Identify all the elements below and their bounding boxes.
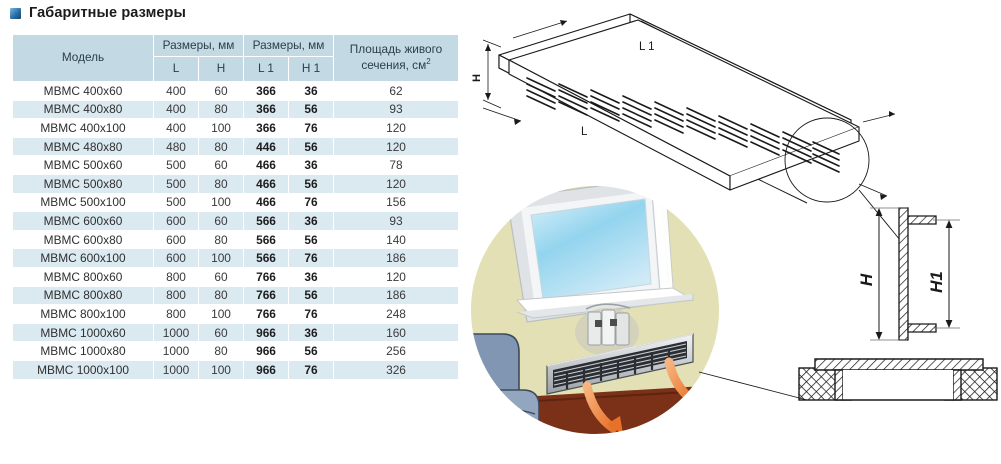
cell-area: 93: [334, 101, 458, 119]
table-row: МВМС 800х10080010076676248: [13, 305, 458, 323]
cell-area: 160: [334, 324, 458, 342]
cell-area: 120: [334, 138, 458, 156]
table-row: МВМС 800х608006076636120: [13, 268, 458, 286]
cell-H: 80: [199, 342, 243, 360]
top-section-drawing: [699, 359, 997, 400]
cell-L: 500: [154, 194, 198, 212]
table-row: МВМС 600х60600605663693: [13, 212, 458, 230]
cell-H1: 56: [289, 231, 333, 249]
cell-L: 400: [154, 119, 198, 137]
cell-area: 120: [334, 119, 458, 137]
cell-area: 120: [334, 175, 458, 193]
cell-model: МВМС 1000х60: [13, 324, 153, 342]
cell-L: 600: [154, 231, 198, 249]
cell-H: 100: [199, 119, 243, 137]
table-row: МВМС 600х10060010056676186: [13, 249, 458, 267]
cell-H1: 76: [289, 361, 333, 379]
cell-H: 60: [199, 212, 243, 230]
cell-L: 500: [154, 175, 198, 193]
cell-H: 80: [199, 287, 243, 305]
cell-model: МВМС 600х60: [13, 212, 153, 230]
cell-H: 60: [199, 268, 243, 286]
cell-L1: 366: [244, 119, 288, 137]
cell-H1: 76: [289, 194, 333, 212]
cell-H: 100: [199, 249, 243, 267]
col-header-group-1: Размеры, мм: [154, 35, 243, 56]
cell-H: 80: [199, 138, 243, 156]
col-header-model: Модель: [13, 35, 153, 81]
table-header-row-1: Модель Размеры, мм Размеры, мм Площадь ж…: [13, 35, 458, 56]
label-L-isometric: L: [581, 126, 588, 138]
room-installation-illustration: [455, 177, 720, 442]
table-row: МВМС 500х805008046656120: [13, 175, 458, 193]
cell-area: 248: [334, 305, 458, 323]
cell-model: МВМС 400х100: [13, 119, 153, 137]
table-body: МВМС 400х60400603663662МВМС 400х80400803…: [13, 82, 458, 379]
cell-model: МВМС 480х80: [13, 138, 153, 156]
cell-L: 800: [154, 287, 198, 305]
table-row: МВМС 500х60500604663678: [13, 156, 458, 174]
free-area-superscript: 2: [426, 57, 430, 66]
cell-H: 60: [199, 82, 243, 100]
cell-H: 100: [199, 194, 243, 212]
cell-H1: 36: [289, 268, 333, 286]
cell-H: 80: [199, 101, 243, 119]
table-row: МВМС 800х808008076656186: [13, 287, 458, 305]
cell-H1: 36: [289, 156, 333, 174]
front-section-drawing: [870, 208, 960, 340]
cell-L1: 466: [244, 156, 288, 174]
cell-area: 256: [334, 342, 458, 360]
label-L1-isometric: L 1: [639, 41, 655, 53]
cell-H: 60: [199, 324, 243, 342]
cell-L1: 766: [244, 287, 288, 305]
cell-H1: 56: [289, 101, 333, 119]
cell-model: МВМС 400х60: [13, 82, 153, 100]
label-H-section: H: [857, 273, 876, 286]
blue-square-bullet-icon: [10, 8, 21, 19]
cell-L1: 466: [244, 175, 288, 193]
cell-L: 800: [154, 268, 198, 286]
figures-panel: H L 1 L: [455, 0, 1001, 464]
cell-L1: 446: [244, 138, 288, 156]
label-H-isometric: H: [471, 74, 483, 82]
dimensions-table: Модель Размеры, мм Размеры, мм Площадь ж…: [12, 34, 459, 380]
cell-L: 800: [154, 305, 198, 323]
cell-area: 78: [334, 156, 458, 174]
table-row: МВМС 1000х8010008096656256: [13, 342, 458, 360]
cell-H: 80: [199, 175, 243, 193]
cell-model: МВМС 500х100: [13, 194, 153, 212]
cell-L: 480: [154, 138, 198, 156]
table-row: МВМС 1000х6010006096636160: [13, 324, 458, 342]
cell-area: 156: [334, 194, 458, 212]
cell-L: 400: [154, 82, 198, 100]
cell-L1: 966: [244, 324, 288, 342]
cell-L: 400: [154, 101, 198, 119]
cell-L1: 566: [244, 212, 288, 230]
table-row: МВМС 480х804808044656120: [13, 138, 458, 156]
cell-area: 186: [334, 287, 458, 305]
cell-model: МВМС 600х80: [13, 231, 153, 249]
col-header-L1: L 1: [244, 57, 288, 81]
cell-model: МВМС 1000х100: [13, 361, 153, 379]
page-title: Габаритные размеры: [29, 5, 186, 21]
cell-model: МВМС 800х100: [13, 305, 153, 323]
cell-H1: 56: [289, 175, 333, 193]
cell-model: МВМС 1000х80: [13, 342, 153, 360]
free-area-line-2: сечения, см: [361, 58, 426, 72]
cell-L1: 766: [244, 305, 288, 323]
table-row: МВМС 400х80400803665693: [13, 101, 458, 119]
cell-H1: 76: [289, 119, 333, 137]
cell-L1: 366: [244, 101, 288, 119]
cell-model: МВМС 500х60: [13, 156, 153, 174]
cell-H: 100: [199, 305, 243, 323]
cell-H: 60: [199, 156, 243, 174]
label-H1-section: H1: [927, 271, 946, 293]
table-row: МВМС 400х10040010036676120: [13, 119, 458, 137]
cell-L: 600: [154, 212, 198, 230]
cell-model: МВМС 800х60: [13, 268, 153, 286]
cell-model: МВМС 400х80: [13, 101, 153, 119]
spec-table-container: Модель Размеры, мм Размеры, мм Площадь ж…: [12, 34, 452, 380]
cell-L: 500: [154, 156, 198, 174]
cell-H: 100: [199, 361, 243, 379]
cell-H1: 76: [289, 305, 333, 323]
cell-area: 326: [334, 361, 458, 379]
cell-H1: 36: [289, 82, 333, 100]
cell-H1: 56: [289, 138, 333, 156]
cell-L: 1000: [154, 324, 198, 342]
table-row: МВМС 1000х100100010096676326: [13, 361, 458, 379]
cell-model: МВМС 600х100: [13, 249, 153, 267]
cell-H: 80: [199, 231, 243, 249]
cell-L1: 966: [244, 361, 288, 379]
cell-H1: 36: [289, 212, 333, 230]
cell-L1: 766: [244, 268, 288, 286]
table-row: МВМС 600х806008056656140: [13, 231, 458, 249]
cell-area: 120: [334, 268, 458, 286]
cell-area: 186: [334, 249, 458, 267]
cell-L1: 966: [244, 342, 288, 360]
table-head: Модель Размеры, мм Размеры, мм Площадь ж…: [13, 35, 458, 81]
cell-L: 1000: [154, 342, 198, 360]
cell-model: МВМС 500х80: [13, 175, 153, 193]
col-header-L: L: [154, 57, 198, 81]
col-header-group-2: Размеры, мм: [244, 35, 333, 56]
col-header-H: H: [199, 57, 243, 81]
section-title: Габаритные размеры: [10, 5, 186, 21]
col-header-H1: H 1: [289, 57, 333, 81]
cell-L: 600: [154, 249, 198, 267]
table-row: МВМС 400х60400603663662: [13, 82, 458, 100]
cell-H1: 56: [289, 287, 333, 305]
cell-H1: 56: [289, 342, 333, 360]
page-root: Габаритные размеры Модель Размеры, мм Ра…: [0, 0, 1001, 464]
cell-L: 1000: [154, 361, 198, 379]
cell-L1: 566: [244, 231, 288, 249]
col-header-free-area: Площадь живого сечения, см2: [334, 35, 458, 81]
cell-L1: 366: [244, 82, 288, 100]
cell-L1: 466: [244, 194, 288, 212]
cell-area: 62: [334, 82, 458, 100]
cell-H1: 36: [289, 324, 333, 342]
free-area-line-1: Площадь живого: [350, 42, 442, 56]
cell-L1: 566: [244, 249, 288, 267]
cell-area: 93: [334, 212, 458, 230]
cell-model: МВМС 800х80: [13, 287, 153, 305]
table-row: МВМС 500х10050010046676156: [13, 194, 458, 212]
cell-H1: 76: [289, 249, 333, 267]
cell-area: 140: [334, 231, 458, 249]
